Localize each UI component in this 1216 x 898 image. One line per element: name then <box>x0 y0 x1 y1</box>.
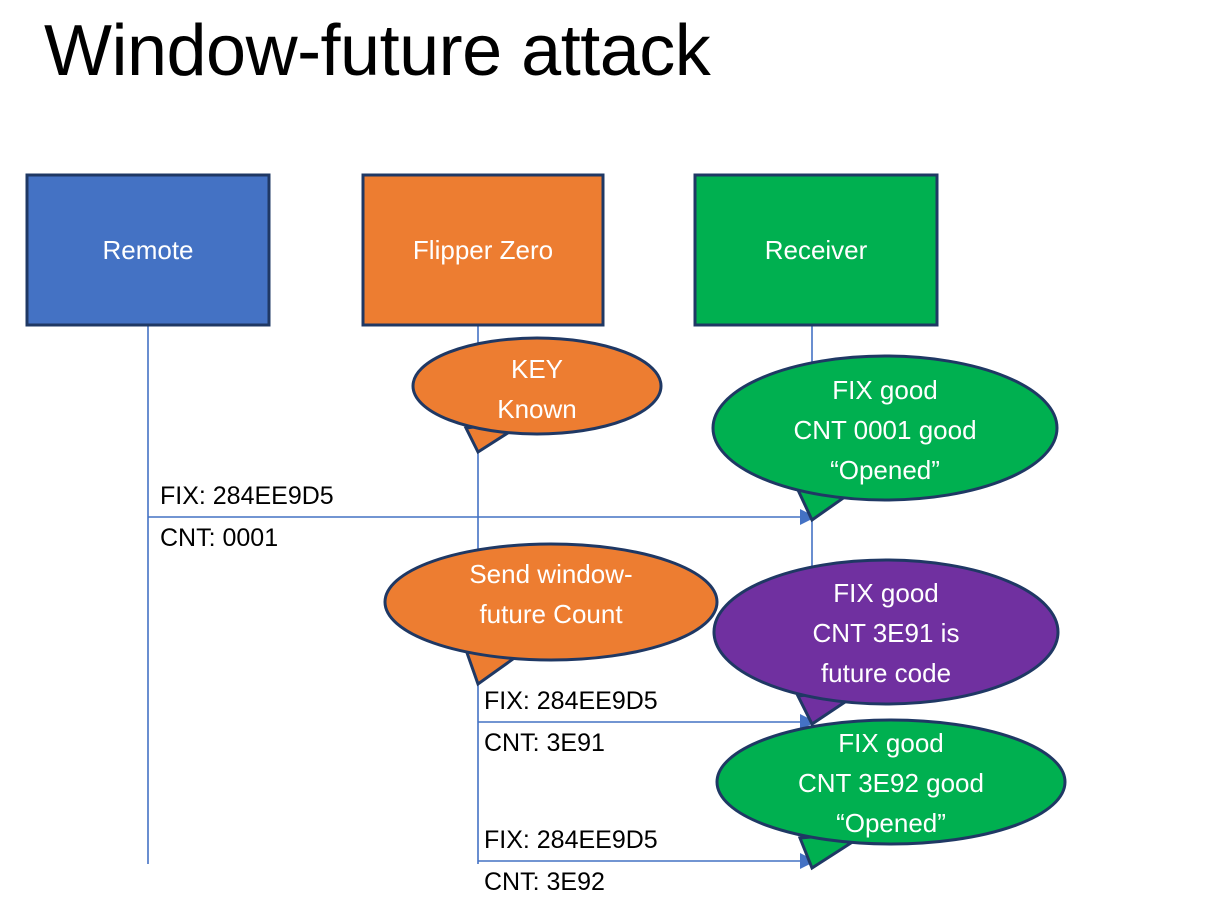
callout-fix-good-0001[interactable] <box>713 356 1057 520</box>
actor-remote[interactable]: Remote <box>26 174 270 326</box>
actor-flipper[interactable]: Flipper Zero <box>362 174 604 326</box>
message-2-cnt-label: CNT: 3E91 <box>484 728 605 758</box>
message-1-fix-label: FIX: 284EE9D5 <box>160 481 334 511</box>
callout-fix-good-3e91-future[interactable] <box>714 560 1058 724</box>
actor-label-receiver: Receiver <box>765 235 868 265</box>
sequence-diagram <box>0 0 1216 898</box>
message-2-fix-label: FIX: 284EE9D5 <box>484 686 658 716</box>
actor-label-remote: Remote <box>102 235 193 265</box>
message-3-cnt-label: CNT: 3E92 <box>484 867 605 897</box>
callout-fix-good-3e92[interactable] <box>717 720 1065 868</box>
callout-key-known[interactable] <box>413 338 661 452</box>
actor-receiver[interactable]: Receiver <box>694 174 938 326</box>
slide-canvas: Window-future attack <box>0 0 1216 898</box>
callout-send-window-future-count[interactable] <box>385 544 717 684</box>
message-3-fix-label: FIX: 284EE9D5 <box>484 825 658 855</box>
message-1-cnt-label: CNT: 0001 <box>160 523 278 553</box>
actor-label-flipper: Flipper Zero <box>413 235 553 265</box>
